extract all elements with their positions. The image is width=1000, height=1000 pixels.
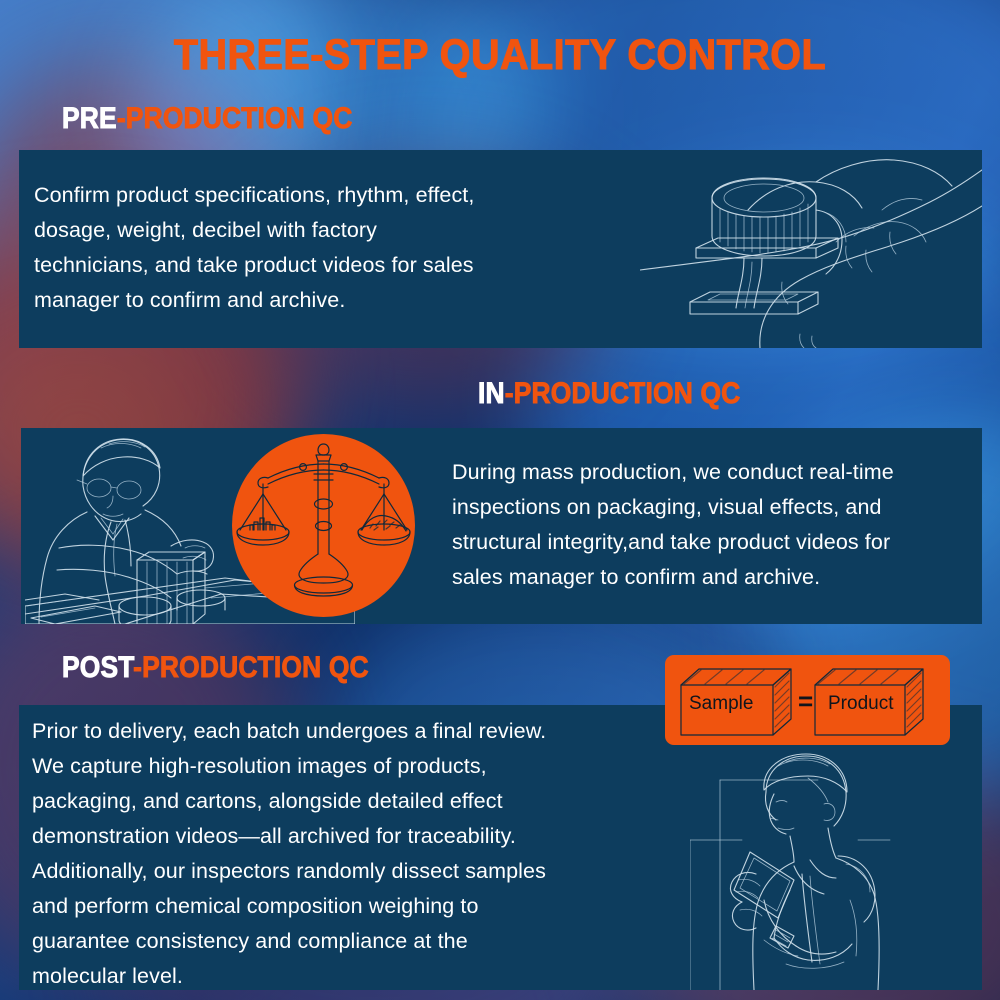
step-heading-suffix: -PRODUCTION QC: [505, 377, 741, 410]
step-heading-post-production: POST-PRODUCTION QC: [62, 653, 369, 683]
page-title: THREE-STEP QUALITY CONTROL: [40, 34, 960, 77]
step-heading-prefix: PRE: [62, 102, 117, 135]
balance-scale-icon: [232, 434, 415, 617]
step-heading-suffix: -PRODUCTION QC: [117, 102, 353, 135]
product-box-label: Product: [828, 694, 893, 713]
step-body-in-production: During mass production, we conduct real-…: [452, 455, 982, 595]
step-heading-prefix: IN: [478, 377, 505, 410]
step-heading-in-production: IN-PRODUCTION QC: [478, 379, 740, 409]
step-body-pre-production: Confirm product specifications, rhythm, …: [34, 178, 594, 318]
sample-box-label: Sample: [689, 694, 753, 713]
step-heading-suffix: -PRODUCTION QC: [133, 651, 369, 684]
equals-sign: =: [798, 688, 813, 714]
step-body-post-production: Prior to delivery, each batch undergoes …: [32, 714, 652, 994]
step-heading-pre-production: PRE-PRODUCTION QC: [62, 104, 352, 134]
sample-equals-product-badge: Sample = Product: [665, 655, 950, 745]
infographic-page: THREE-STEP QUALITY CONTROL PRE-PRODUCTIO…: [0, 0, 1000, 1000]
step-heading-prefix: POST: [62, 651, 133, 684]
